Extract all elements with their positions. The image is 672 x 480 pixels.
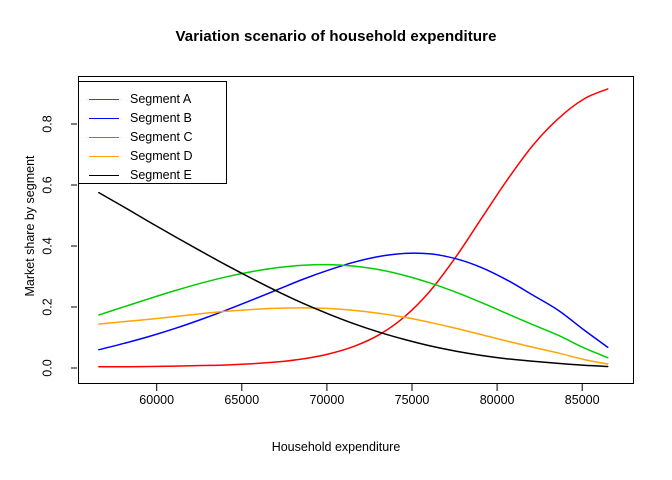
legend-item-segment-e: Segment E	[79, 165, 228, 185]
y-tick-label: 0.4	[40, 237, 54, 254]
legend-swatch-line-icon	[89, 137, 119, 138]
legend-swatch-line-icon	[89, 99, 119, 100]
x-tick-label: 75000	[395, 393, 430, 407]
series-line-segment-c	[99, 265, 608, 358]
legend-item-label: Segment B	[130, 112, 192, 125]
legend-swatch-line-icon	[89, 156, 119, 157]
legend-item-label: Segment C	[130, 131, 193, 144]
legend-item-segment-a: Segment A	[79, 89, 228, 109]
series-line-segment-b	[99, 253, 608, 350]
series-line-segment-e	[99, 193, 608, 367]
x-tick-label: 70000	[310, 393, 345, 407]
series-line-segment-d	[99, 308, 608, 364]
y-tick-label: 0.0	[40, 359, 54, 376]
legend-item-segment-b: Segment B	[79, 108, 228, 128]
y-axis-title: Market share by segment	[23, 66, 37, 386]
x-tick-label: 85000	[565, 393, 600, 407]
y-tick-label: 0.8	[40, 115, 54, 132]
x-tick-label: 65000	[224, 393, 259, 407]
x-axis-title: Household expenditure	[0, 440, 672, 454]
legend-item-label: Segment E	[130, 169, 192, 182]
chart-canvas: Variation scenario of household expendit…	[0, 0, 672, 480]
legend-item-label: Segment A	[130, 93, 191, 106]
legend: Segment ASegment BSegment CSegment DSegm…	[78, 81, 227, 184]
legend-item-segment-c: Segment C	[79, 127, 228, 147]
legend-swatch-line-icon	[89, 118, 119, 119]
y-tick-label: 0.6	[40, 176, 54, 193]
legend-swatch-line-icon	[89, 175, 119, 176]
legend-item-label: Segment D	[130, 150, 193, 163]
x-tick-label: 60000	[139, 393, 174, 407]
plot-area	[0, 0, 672, 480]
legend-item-segment-d: Segment D	[79, 146, 228, 166]
x-tick-label: 80000	[480, 393, 515, 407]
y-tick-label: 0.2	[40, 298, 54, 315]
